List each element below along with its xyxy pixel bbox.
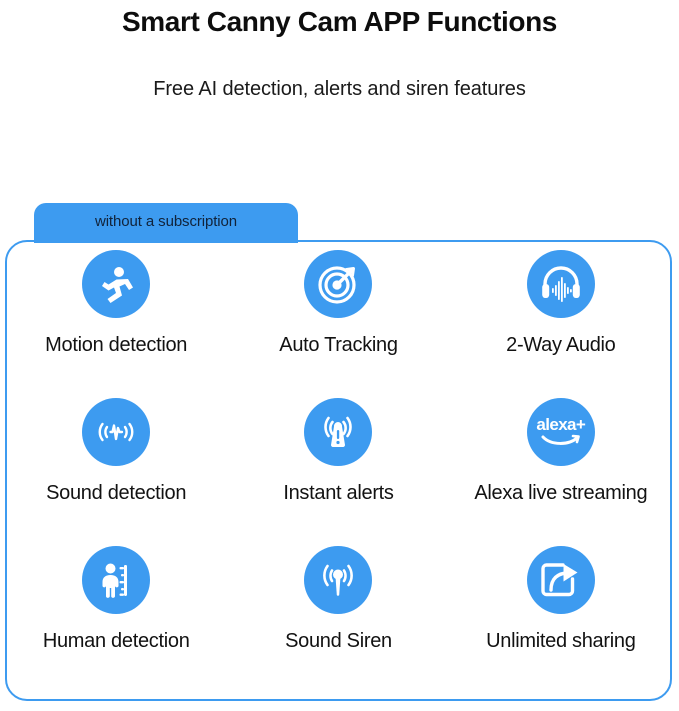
feature-item-2-way-audio[interactable]: 2-Way Audio [450, 250, 672, 398]
siren-antenna-icon [304, 546, 372, 614]
feature-item-alexa-live-streaming[interactable]: alexa+ Alexa live streaming [450, 398, 672, 546]
sound-waveform-icon [82, 398, 150, 466]
headphones-waveform-icon [527, 250, 595, 318]
feature-label: 2-Way Audio [506, 332, 615, 358]
feature-item-unlimited-sharing[interactable]: Unlimited sharing [450, 546, 672, 694]
feature-item-instant-alerts[interactable]: Instant alerts [227, 398, 449, 546]
feature-item-sound-detection[interactable]: Sound detection [5, 398, 227, 546]
person-ruler-icon [82, 546, 150, 614]
feature-label: Unlimited sharing [486, 628, 635, 654]
feature-label: Alexa live streaming [474, 480, 647, 506]
feature-item-auto-tracking[interactable]: Auto Tracking [227, 250, 449, 398]
feature-item-sound-siren[interactable]: Sound Siren [227, 546, 449, 694]
alert-broadcast-icon [304, 398, 372, 466]
features-grid: Motion detection Auto Tracking [5, 250, 672, 694]
target-arrow-icon [304, 250, 372, 318]
feature-label: Motion detection [45, 332, 187, 358]
feature-label: Human detection [43, 628, 190, 654]
feature-item-motion-detection[interactable]: Motion detection [5, 250, 227, 398]
amazon-smile-arrow-icon [540, 433, 582, 449]
feature-label: Sound detection [46, 480, 186, 506]
alexa-plus-icon: alexa+ [527, 398, 595, 466]
running-person-icon [82, 250, 150, 318]
feature-label: Auto Tracking [279, 332, 397, 358]
subscription-tab: without a subscription [34, 203, 298, 243]
share-arrow-icon [527, 546, 595, 614]
feature-label: Sound Siren [285, 628, 392, 654]
feature-label: Instant alerts [283, 480, 393, 506]
alexa-wordmark: alexa+ [536, 416, 585, 433]
subscription-tab-label: without a subscription [95, 213, 237, 233]
feature-item-human-detection[interactable]: Human detection [5, 546, 227, 694]
features-card-wrapper: without a subscription Motion detection [5, 203, 674, 703]
page-title: Smart Canny Cam APP Functions [0, 2, 679, 42]
page-subtitle: Free AI detection, alerts and siren feat… [0, 74, 679, 104]
page-header: Smart Canny Cam APP Functions Free AI de… [0, 0, 679, 104]
